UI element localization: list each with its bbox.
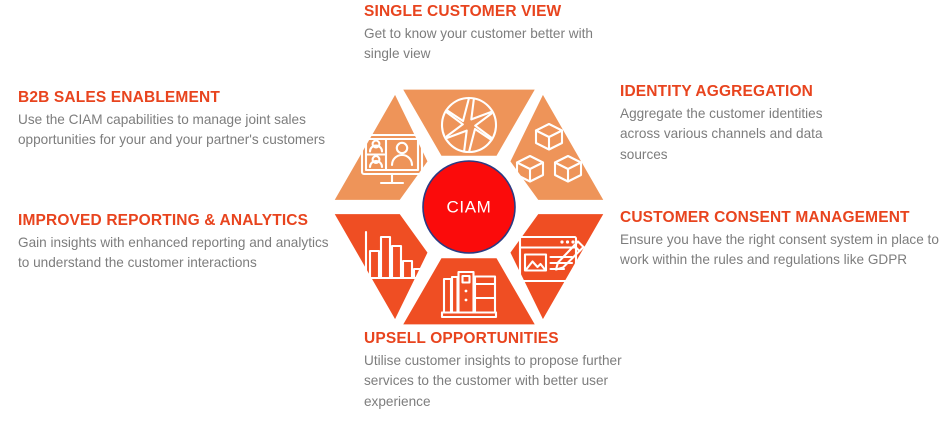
callout-customer-consent-management: CUSTOMER CONSENT MANAGEMENT Ensure you h… — [620, 208, 940, 271]
callout-title-customer-consent-management: CUSTOMER CONSENT MANAGEMENT — [620, 208, 940, 228]
callout-title-improved-reporting-analytics: IMPROVED REPORTING & ANALYTICS — [18, 211, 333, 231]
callout-title-b2b-sales-enablement: B2B SALES ENABLEMENT — [18, 88, 333, 108]
callout-single-customer-view: SINGLE CUSTOMER VIEW Get to know your cu… — [364, 2, 594, 65]
callout-body-b2b-sales-enablement: Use the CIAM capabilities to manage join… — [18, 110, 333, 151]
callout-b2b-sales-enablement: B2B SALES ENABLEMENT Use the CIAM capabi… — [18, 88, 333, 151]
hub-label: CIAM — [447, 197, 492, 216]
callout-upsell-opportunities: UPSELL OPPORTUNITIES Utilise customer in… — [364, 329, 629, 412]
hexagon-wheel: CIAM — [326, 82, 612, 332]
callout-body-identity-aggregation: Aggregate the customer identities across… — [620, 104, 860, 166]
callout-identity-aggregation: IDENTITY AGGREGATION Aggregate the custo… — [620, 82, 860, 165]
hub[interactable]: CIAM — [423, 161, 515, 253]
callout-improved-reporting-analytics: IMPROVED REPORTING & ANALYTICS Gain insi… — [18, 211, 333, 274]
callout-body-upsell-opportunities: Utilise customer insights to propose fur… — [364, 351, 629, 413]
callout-body-single-customer-view: Get to know your customer better with si… — [364, 24, 594, 65]
callout-body-customer-consent-management: Ensure you have the right consent system… — [620, 230, 940, 271]
callout-title-identity-aggregation: IDENTITY AGGREGATION — [620, 82, 860, 102]
callout-body-improved-reporting-analytics: Gain insights with enhanced reporting an… — [18, 233, 333, 274]
diagram-canvas: B2B SALES ENABLEMENT Use the CIAM capabi… — [0, 0, 947, 436]
callout-title-single-customer-view: SINGLE CUSTOMER VIEW — [364, 2, 594, 22]
